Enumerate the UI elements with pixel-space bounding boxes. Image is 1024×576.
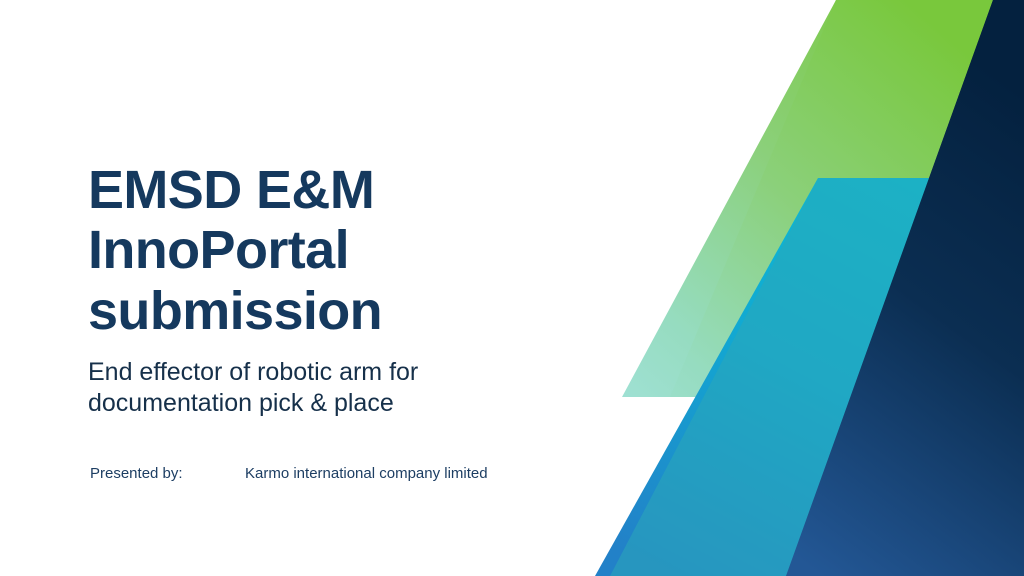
page-title: EMSD E&M InnoPortal submission xyxy=(88,160,648,341)
slide-subtitle: End effector of robotic arm for document… xyxy=(88,357,558,419)
slide-content: EMSD E&M InnoPortal submission End effec… xyxy=(0,0,1024,576)
presenter-block: Presented by: Karmo international compan… xyxy=(90,465,488,482)
presenter-name: Karmo international company limited xyxy=(245,465,488,482)
presentation-slide: EMSD E&M InnoPortal submission End effec… xyxy=(0,0,1024,576)
subtitle-block: End effector of robotic arm for document… xyxy=(88,357,558,419)
presented-by-label: Presented by: xyxy=(90,465,245,482)
title-block: EMSD E&M InnoPortal submission xyxy=(88,160,648,341)
